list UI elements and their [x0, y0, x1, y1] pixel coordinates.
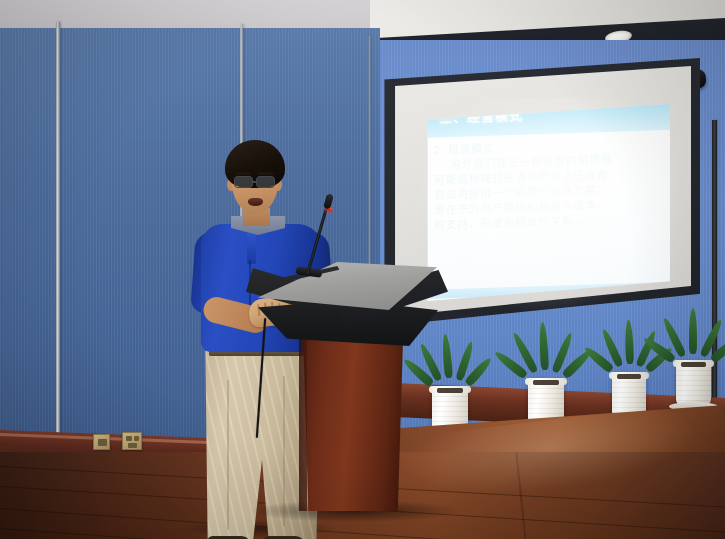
podium-column	[299, 336, 403, 511]
power-outlet-plate	[122, 432, 142, 450]
potted-palm-3	[605, 318, 655, 418]
podium-column-edge	[299, 336, 307, 511]
potted-palm-1	[425, 330, 475, 436]
network-jack-plate	[93, 434, 110, 450]
slide-body: 2. 租赁模式 另外我们提出一种新型的租赁模 可能这种模式在当前市场上还没有 目…	[434, 137, 660, 234]
wall-trim-strip	[56, 22, 60, 480]
polo-placket	[247, 232, 256, 264]
projected-slide: 三、经营模式 2. 租赁模式 另外我们提出一种新型的租赁模 可能这种模式在当前市…	[424, 104, 670, 301]
eyebrow	[258, 172, 274, 175]
potted-palm-2	[520, 322, 572, 426]
presenter-mouth	[248, 198, 263, 206]
pants-crease	[227, 380, 229, 530]
glasses-lens-right-icon	[256, 176, 275, 188]
potted-palm-4	[668, 306, 720, 406]
eyebrow	[235, 172, 251, 175]
presentation-room-photo: 三、经营模式 2. 租赁模式 另外我们提出一种新型的租赁模 可能这种模式在当前市…	[0, 0, 725, 539]
glasses-bridge-icon	[253, 181, 257, 183]
glasses-lens-left-icon	[234, 176, 253, 188]
